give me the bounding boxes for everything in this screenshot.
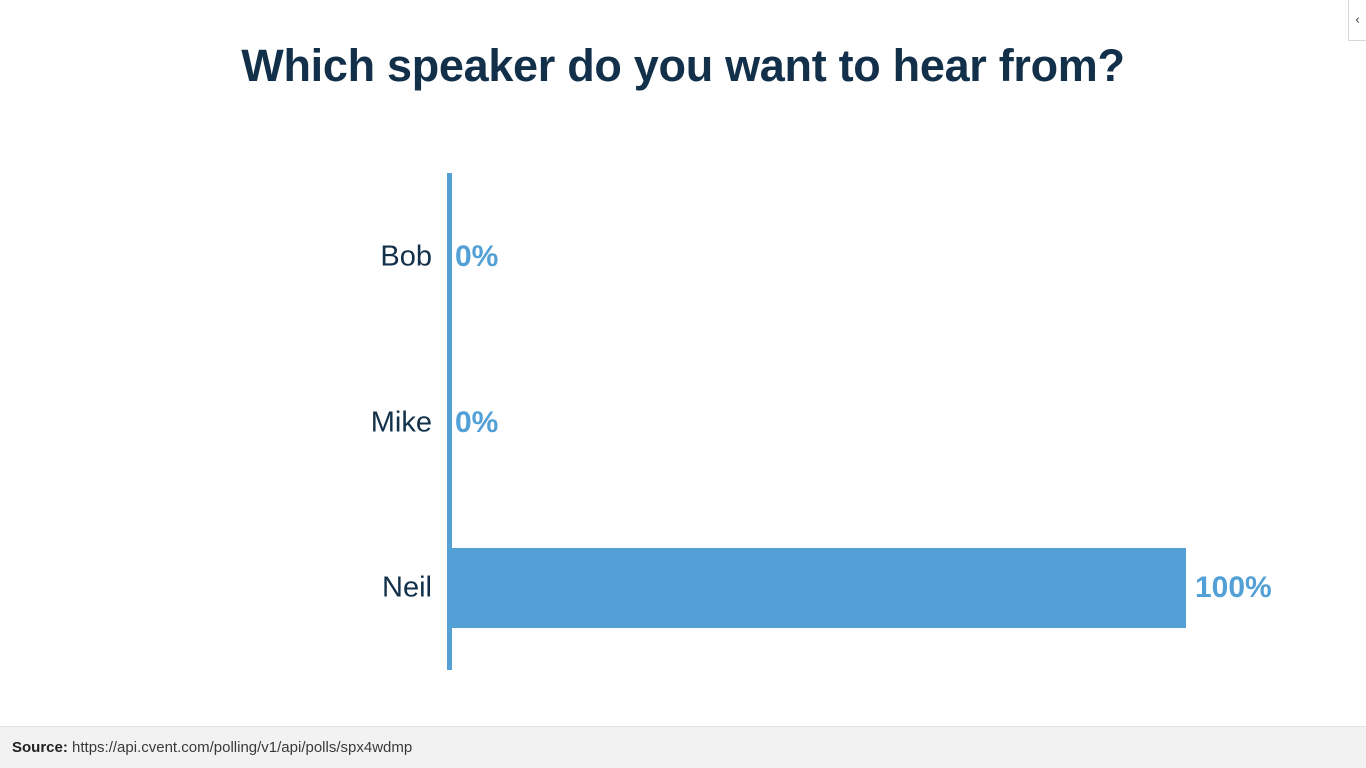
bar-track-neil: 100%	[452, 542, 1366, 634]
panel-collapse-tab[interactable]: ‹	[1348, 0, 1366, 41]
value-label-neil: 100%	[1195, 573, 1272, 603]
source-footer: Source: https://api.cvent.com/polling/v1…	[0, 726, 1366, 768]
chevron-left-icon: ‹	[1355, 14, 1360, 27]
bar-fill-neil	[452, 548, 1186, 628]
bar-track-mike: 0%	[452, 377, 1366, 469]
category-label-neil: Neil	[60, 574, 432, 603]
table-row: Bob 0%	[0, 211, 1366, 303]
category-label-mike: Mike	[60, 409, 432, 438]
poll-bar-chart: Bob 0% Mike 0% Neil 100%	[0, 150, 1366, 690]
source-text: Source: https://api.cvent.com/polling/v1…	[12, 739, 412, 756]
source-url: https://api.cvent.com/polling/v1/api/pol…	[72, 739, 412, 756]
table-row: Mike 0%	[0, 377, 1366, 469]
page-title: Which speaker do you want to hear from?	[0, 40, 1366, 92]
value-label-mike: 0%	[455, 408, 498, 438]
bar-track-bob: 0%	[452, 211, 1366, 303]
table-row: Neil 100%	[0, 542, 1366, 634]
source-label: Source:	[12, 739, 68, 756]
value-label-bob: 0%	[455, 242, 498, 272]
category-label-bob: Bob	[60, 243, 432, 272]
